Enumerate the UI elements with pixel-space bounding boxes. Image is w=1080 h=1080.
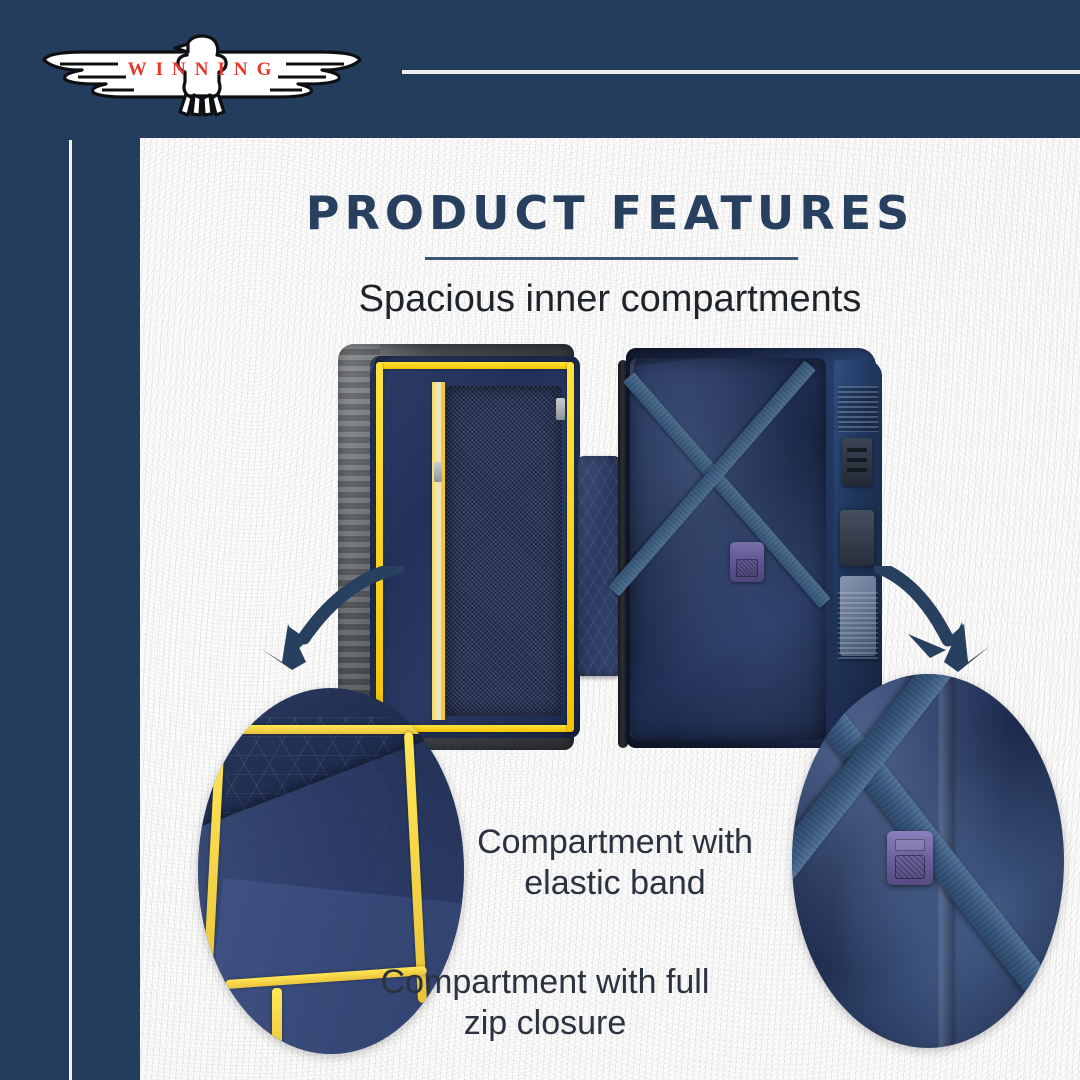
page-title: PRODUCT FEATURES — [140, 186, 1080, 240]
page-subtitle: Spacious inner compartments — [140, 278, 1080, 321]
zipper-pull — [434, 462, 442, 482]
zipper-pull-top — [556, 398, 565, 420]
shell-grooves-top — [838, 386, 878, 432]
poster-canvas: WINNING PRODUCT FEATURES Spacious inner … — [0, 0, 1080, 1080]
curved-arrow-down-left-icon — [248, 566, 418, 696]
elastic-strap-closeup-circle — [792, 674, 1064, 1048]
vertical-zipper — [432, 382, 445, 720]
title-divider — [425, 257, 798, 260]
hex-texture — [578, 456, 620, 676]
lock-dial-2 — [847, 458, 867, 462]
inset-left-yellow-trim-top — [209, 725, 432, 734]
caption-elastic-band: Compartment with elastic band — [440, 822, 790, 905]
yellow-trim-right — [567, 362, 574, 732]
inset-right-buckle — [887, 831, 933, 885]
header-horizontal-rule — [402, 70, 1080, 74]
buckle-slot — [895, 839, 925, 851]
lock-dial-1 — [847, 448, 867, 452]
center-divider-flap — [578, 456, 620, 676]
mesh-pocket — [446, 386, 562, 716]
luggage-tag — [840, 576, 876, 656]
eagle-wings-logo-icon — [22, 22, 382, 118]
lock-dial-3 — [847, 468, 867, 472]
inset-left-zipper-strip — [272, 988, 282, 1054]
suitcase-handle — [840, 510, 874, 566]
tsa-lock-icon — [842, 438, 872, 486]
caption-full-zip: Compartment with full zip closure — [355, 962, 735, 1045]
frame-vertical-rule — [69, 140, 72, 1080]
yellow-trim-top — [376, 362, 574, 369]
buckle-grip — [736, 559, 758, 577]
brand-logo[interactable]: WINNING — [22, 22, 382, 118]
buckle-grip — [895, 855, 925, 879]
strap-buckle — [730, 542, 764, 582]
